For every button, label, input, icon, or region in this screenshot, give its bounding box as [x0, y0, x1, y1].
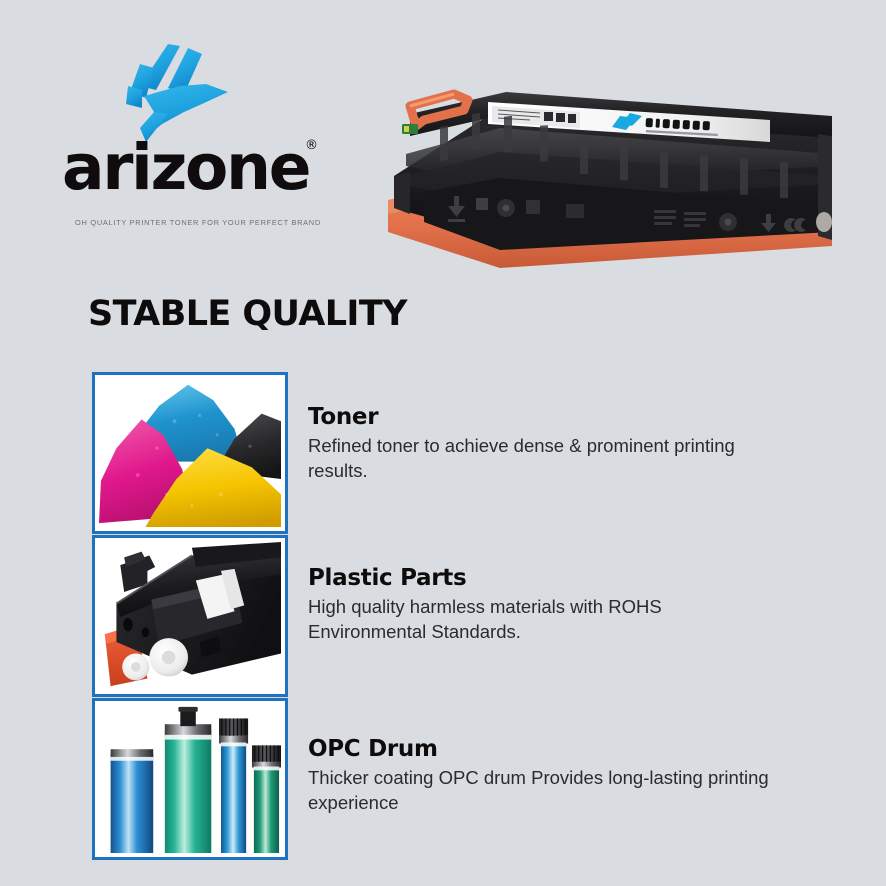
feature-title: Plastic Parts: [308, 565, 788, 591]
feature-title: OPC Drum: [308, 736, 788, 762]
feature-title: Toner: [308, 404, 788, 430]
opc-drum-image: [92, 698, 288, 860]
toner-cartridge-image: [380, 80, 842, 280]
brand-tagline: OH QUALITY PRINTER TONER FOR YOUR PERFEC…: [67, 218, 329, 227]
registered-trademark-icon: ®: [305, 138, 318, 153]
feature-row-plastic-parts: Plastic Parts High quality harmless mate…: [92, 535, 792, 697]
feature-text-opc-drum: OPC Drum Thicker coating OPC drum Provid…: [308, 736, 788, 815]
feature-text-toner: Toner Refined toner to achieve dense & p…: [308, 404, 788, 483]
feature-row-toner: Toner Refined toner to achieve dense & p…: [92, 372, 792, 534]
page-title: STABLE QUALITY: [88, 294, 407, 334]
feature-text-plastic-parts: Plastic Parts High quality harmless mate…: [308, 565, 788, 644]
cmyk-toner-powder-image: [92, 372, 288, 534]
plastic-parts-image: [92, 535, 288, 697]
infographic-page: arizone ® OH QUALITY PRINTER TONER FOR Y…: [0, 0, 886, 886]
brand-logo: arizone ® OH QUALITY PRINTER TONER FOR Y…: [62, 42, 362, 202]
feature-description: Thicker coating OPC drum Provides long-l…: [308, 765, 778, 815]
feature-row-opc-drum: OPC Drum Thicker coating OPC drum Provid…: [92, 698, 792, 860]
feature-description: High quality harmless materials with ROH…: [308, 594, 778, 644]
brand-wordmark: arizone: [62, 140, 332, 196]
feature-description: Refined toner to achieve dense & promine…: [308, 433, 778, 483]
